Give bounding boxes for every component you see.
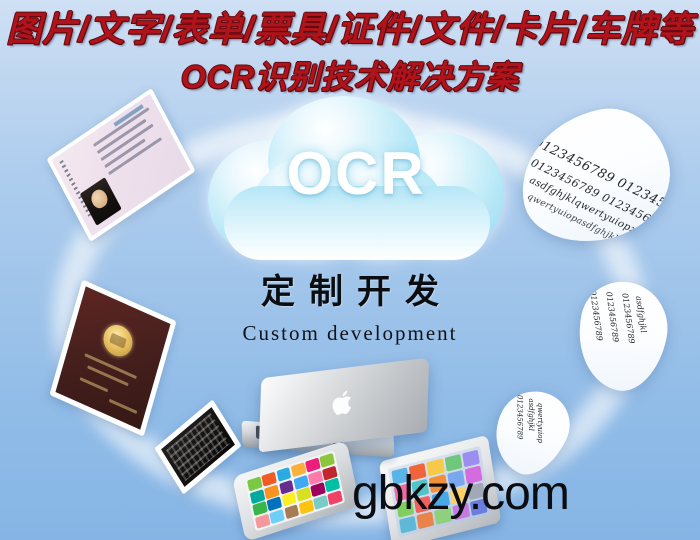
id-card-face — [88, 186, 110, 211]
headline-line-1: 图片/文字/表单/票具/证件/文件/卡片/车牌等 — [0, 9, 700, 51]
cloud-label: OCR — [208, 142, 504, 206]
ocr-solution-poster: 图片/文字/表单/票具/证件/文件/卡片/车牌等 OCR识别技术解决方案 OCR — [0, 0, 700, 540]
sheet-c-line-3: qwertyuiop — [536, 403, 544, 443]
laptop-lid — [259, 357, 429, 452]
apple-logo-icon — [332, 387, 357, 418]
sheet-c-line-2: asdfghjkl — [527, 398, 535, 430]
center-caption-english: Custom development — [0, 320, 700, 346]
headline-line-2: OCR识别技术解决方案 — [0, 58, 700, 96]
site-watermark: gbkzy.com — [352, 466, 569, 522]
cloud-graphic: OCR — [208, 96, 504, 264]
id-card-text-lines — [93, 107, 167, 179]
center-caption-chinese: 定制开发 — [0, 272, 700, 312]
id-card-photo — [80, 177, 122, 226]
sheet-c-line-1: 0123456789 — [515, 395, 523, 440]
